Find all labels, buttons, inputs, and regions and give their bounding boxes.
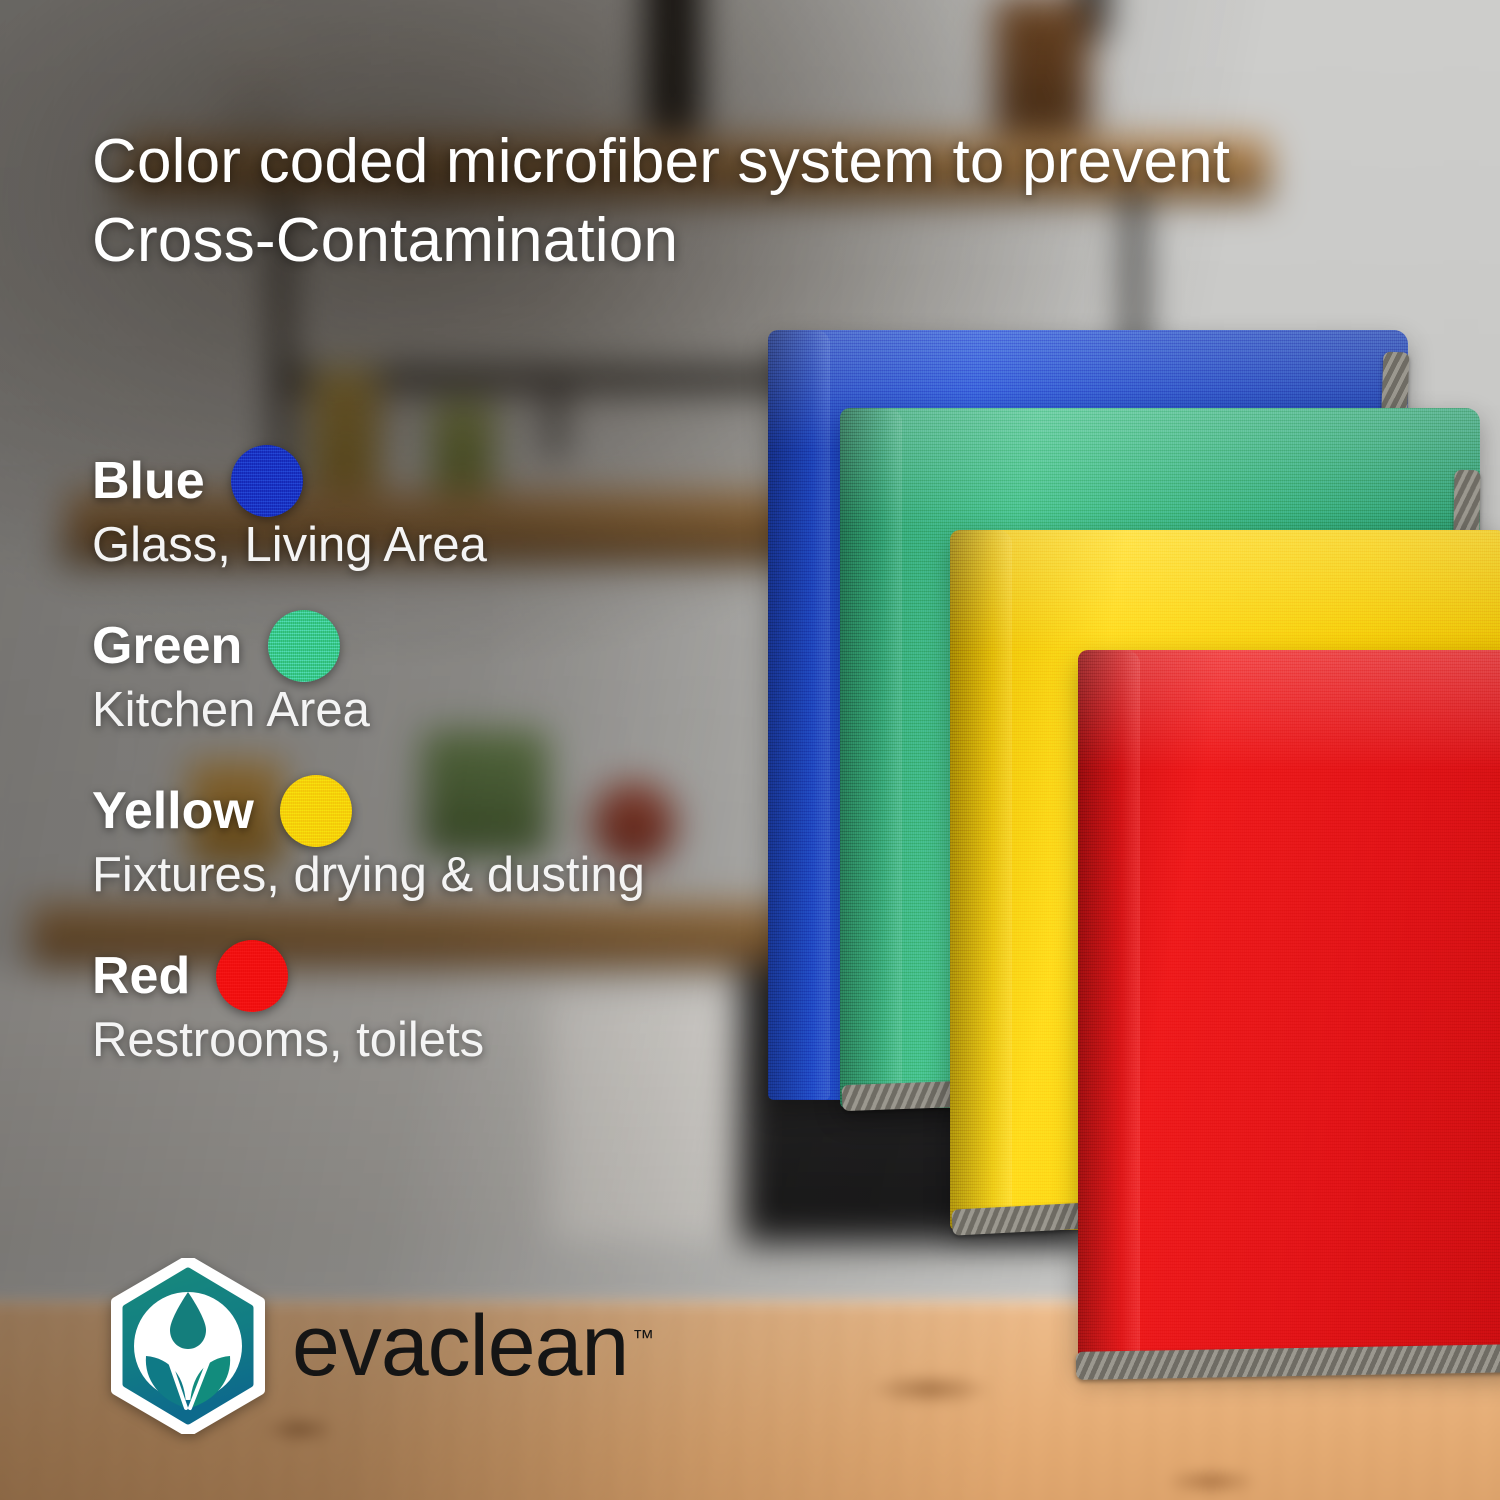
- legend-row: Green: [92, 613, 832, 679]
- headline-line-2: Cross-Contamination: [92, 201, 1422, 280]
- legend-color-name: Yellow: [92, 785, 254, 837]
- headline: Color coded microfiber system to prevent…: [92, 122, 1422, 281]
- brand-wordmark: evaclean™: [292, 1303, 654, 1389]
- poster-content: Color coded microfiber system to prevent…: [0, 0, 1500, 1500]
- swatch-texture: [268, 610, 340, 682]
- swatch-texture: [231, 445, 303, 517]
- headline-line-1: Color coded microfiber system to prevent: [92, 122, 1422, 201]
- swatch-texture: [216, 940, 288, 1012]
- yellow-color-swatch: [280, 775, 352, 847]
- legend-description: Kitchen Area: [92, 683, 832, 738]
- product-infographic-poster: Color coded microfiber system to prevent…: [0, 0, 1500, 1500]
- green-color-swatch: [268, 610, 340, 682]
- legend-row: Yellow: [92, 778, 832, 844]
- red-color-swatch: [216, 940, 288, 1012]
- blue-color-swatch: [231, 445, 303, 517]
- trademark-symbol: ™: [632, 1325, 654, 1350]
- legend-row: Red: [92, 943, 832, 1009]
- brand-lockup: evaclean™: [108, 1258, 654, 1434]
- swatch-texture: [280, 775, 352, 847]
- legend-color-name: Red: [92, 950, 190, 1002]
- legend-item-blue: Blue Glass, Living Area: [92, 448, 832, 573]
- legend-item-yellow: Yellow Fixtures, drying & dusting: [92, 778, 832, 903]
- legend-row: Blue: [92, 448, 832, 514]
- legend-description: Fixtures, drying & dusting: [92, 848, 832, 903]
- legend-item-green: Green Kitchen Area: [92, 613, 832, 738]
- hexagon-droplet-leaves-icon: [108, 1258, 268, 1434]
- color-code-legend: Blue Glass, Living Area Green Kitchen Ar…: [92, 448, 832, 1108]
- legend-item-red: Red Restrooms, toilets: [92, 943, 832, 1068]
- brand-name: evaclean: [292, 1298, 628, 1394]
- legend-description: Restrooms, toilets: [92, 1013, 832, 1068]
- legend-description: Glass, Living Area: [92, 518, 832, 573]
- legend-color-name: Green: [92, 620, 242, 672]
- legend-color-name: Blue: [92, 455, 205, 507]
